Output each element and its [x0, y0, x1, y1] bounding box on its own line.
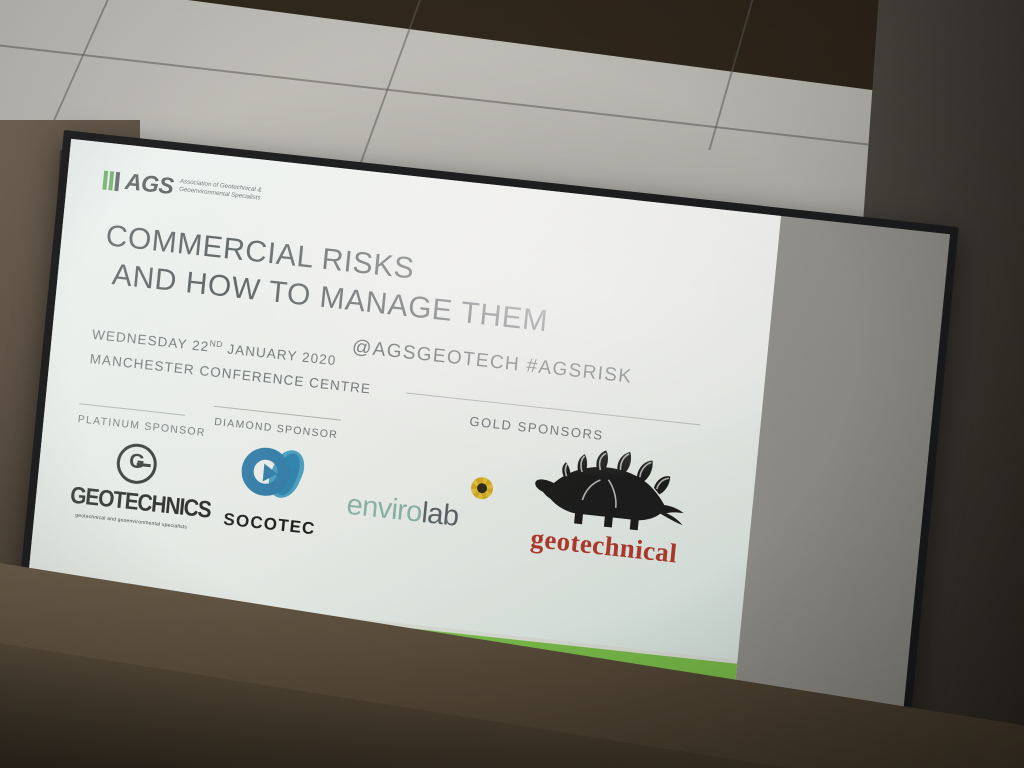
circled-g-icon	[115, 442, 159, 486]
ags-bars-icon	[102, 171, 120, 192]
event-details: WEDNESDAY 22ND JANUARY 2020 MANCHESTER C…	[89, 318, 375, 401]
slide-title: COMMERCIAL RISKS AND HOW TO MANAGE THEM	[100, 217, 553, 341]
sponsor-logo-socotec: SOCOTEC	[210, 442, 336, 540]
sunflower-icon	[470, 476, 494, 500]
label-diamond-sponsor: DIAMOND SPONSOR	[214, 416, 339, 441]
divider-gold	[406, 392, 700, 425]
socotec-wordmark: SOCOTEC	[210, 508, 329, 541]
sponsor-logo-geotechnics: GEOTECHNICS geotechnical and geoenvironm…	[68, 437, 201, 531]
event-date-ordinal: ND	[209, 338, 223, 349]
label-platinum-sponsor: PLATINUM SPONSOR	[77, 413, 206, 439]
socotec-circle-icon	[238, 445, 309, 510]
envirolab-part2: lab	[420, 497, 460, 533]
conference-room-photo: AGS Association of Geotechnical & Geoenv…	[0, 0, 1024, 768]
envirolab-part1: enviro	[345, 489, 423, 529]
sponsor-logo-geotechnical: geotechnical	[503, 436, 713, 572]
ags-wordmark: AGS	[124, 168, 175, 199]
ags-logo: AGS Association of Geotechnical & Geoenv…	[102, 169, 272, 210]
ags-tagline: Association of Geotechnical & Geoenviron…	[179, 178, 272, 204]
sponsor-logo-envirolab: envirolab	[345, 489, 497, 538]
divider-platinum	[79, 403, 184, 415]
social-handles: @AGSGEOTECH #AGSRISK	[351, 336, 633, 388]
